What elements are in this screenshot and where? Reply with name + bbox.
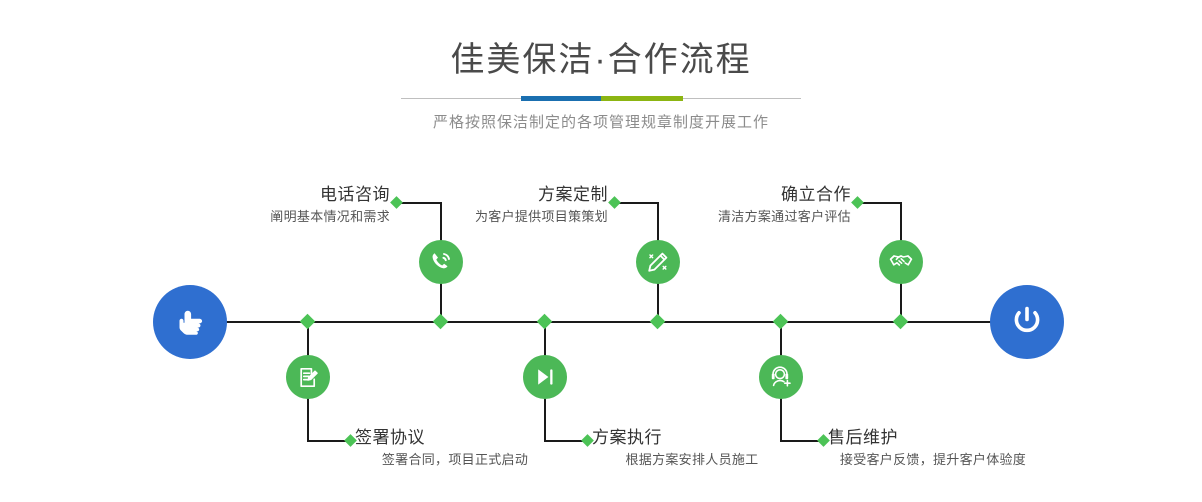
step-icon-2 [286,355,330,399]
step-desc-2: 签署合同，项目正式启动 [355,450,555,470]
timeline-end-node [990,285,1064,359]
step-label-3: 方案定制 为客户提供项目策策划 [393,183,608,227]
axis-marker-step-5 [893,314,909,330]
step-desc-5: 清洁方案通过客户评估 [636,207,851,227]
step-label-4: 方案执行 根据方案安排人员施工 [592,426,792,470]
connector-horizontal-step-5 [858,202,902,204]
step-desc-3: 为客户提供项目策策划 [393,207,608,227]
power-icon [1006,301,1048,343]
step-label-1: 电话咨询 阐明基本情况和需求 [175,183,390,227]
step-icon-3 [636,240,680,284]
step-desc-6: 接受客户反馈，提升客户体验度 [828,450,1038,470]
pointing-hand-icon [170,302,210,342]
cooperation-process-infographic: 佳美保洁·合作流程 严格按照保洁制定的各项管理规章制度开展工作 [0,0,1202,502]
document-sign-icon [296,365,321,390]
play-execute-icon [533,365,557,389]
axis-marker-step-4 [537,314,553,330]
step-icon-6 [759,355,803,399]
axis-marker-step-1 [433,314,449,330]
step-title-5: 确立合作 [636,183,851,207]
handshake-icon [888,249,914,275]
axis-marker-step-2 [300,314,316,330]
step-title-1: 电话咨询 [175,183,390,207]
axis-marker-step-3 [650,314,666,330]
timeline-start-node [153,285,227,359]
step-title-4: 方案执行 [592,426,792,450]
step-label-2: 签署协议 签署合同，项目正式启动 [355,426,555,470]
step-title-6: 售后维护 [828,426,1038,450]
customer-support-icon [769,365,794,390]
axis-marker-step-6 [773,314,789,330]
step-label-6: 售后维护 接受客户反馈，提升客户体验度 [828,426,1038,470]
step-desc-1: 阐明基本情况和需求 [175,207,390,227]
step-label-5: 确立合作 清洁方案通过客户评估 [636,183,851,227]
step-desc-4: 根据方案安排人员施工 [592,450,792,470]
step-icon-5 [879,240,923,284]
pencil-plan-icon [645,249,671,275]
branch-marker-step-3 [608,196,621,209]
phone-call-icon [428,249,454,275]
branch-marker-step-5 [851,196,864,209]
process-timeline: 电话咨询 阐明基本情况和需求 签署协议 签署合同，项目正式启动 [0,0,1202,502]
step-title-2: 签署协议 [355,426,555,450]
step-icon-1 [419,240,463,284]
step-title-3: 方案定制 [393,183,608,207]
step-icon-4 [523,355,567,399]
